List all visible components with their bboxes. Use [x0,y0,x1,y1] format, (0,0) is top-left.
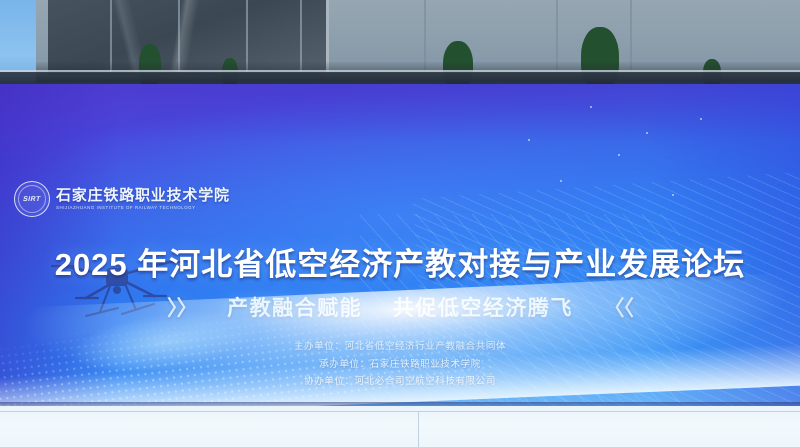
event-banner: SIRT 石家庄铁路职业技术学院 SHIJIAZHUANG INSTITUTE … [0,84,800,406]
stage-floor-seam-horizontal [0,411,800,412]
photo-scene: SIRT 石家庄铁路职业技术学院 SHIJIAZHUANG INSTITUTE … [0,0,800,447]
school-logo: SIRT 石家庄铁路职业技术学院 SHIJIAZHUANG INSTITUTE … [14,181,230,217]
school-emblem-icon: SIRT [14,181,50,217]
stage-floor-seam-vertical [418,412,419,447]
stage-floor [0,406,800,447]
school-emblem-text: SIRT [22,196,41,203]
school-name-en: SHIJIAZHUANG INSTITUTE OF RAILWAY TECHNO… [56,206,230,210]
school-name-cn: 石家庄铁路职业技术学院 [56,188,230,203]
